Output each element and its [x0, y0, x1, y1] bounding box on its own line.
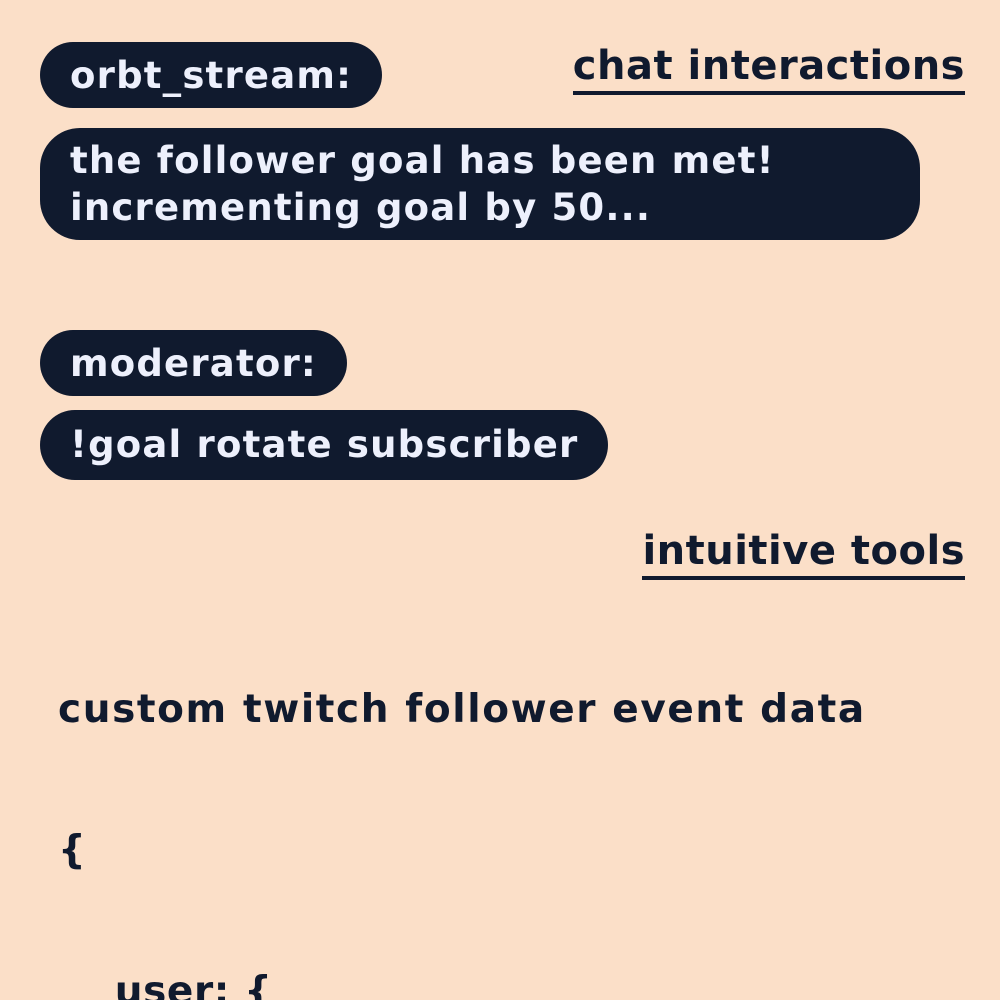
section-heading-intuitive-tools: intuitive tools	[642, 531, 965, 580]
chat-message-line: !goal rotate subscriber	[70, 421, 578, 468]
event-data-code-block: custom twitch follower event data { user…	[58, 592, 978, 1000]
section-heading-chat-interactions-label: chat interactions	[573, 46, 965, 95]
section-heading-intuitive-tools-label: intuitive tools	[642, 531, 965, 580]
chat-message-bubble-follower-goal[interactable]: the follower goal has been met! incremen…	[40, 128, 920, 240]
code-line: {	[58, 827, 978, 874]
page-canvas: chat interactions orbt_stream: the follo…	[0, 0, 1000, 1000]
code-line: user: {	[58, 968, 978, 1000]
chat-author-label: moderator:	[70, 345, 317, 382]
chat-author-label: orbt_stream:	[70, 57, 352, 94]
chat-message-line: the follower goal has been met!	[70, 137, 775, 184]
chat-message-line: incrementing goal by 50...	[70, 184, 651, 231]
chat-message-bubble-goal-rotate-command[interactable]: !goal rotate subscriber	[40, 410, 608, 480]
chat-author-bubble-moderator[interactable]: moderator:	[40, 330, 347, 396]
code-block-title: custom twitch follower event data	[58, 686, 978, 733]
section-heading-chat-interactions: chat interactions	[573, 46, 965, 95]
chat-author-bubble-orbt-stream[interactable]: orbt_stream:	[40, 42, 382, 108]
